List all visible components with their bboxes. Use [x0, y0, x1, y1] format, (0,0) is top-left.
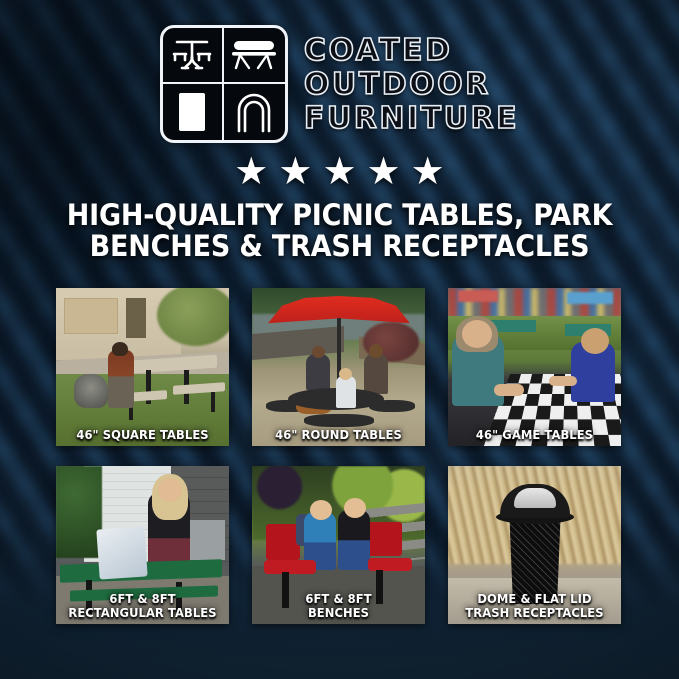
logo-icon-grid — [160, 25, 288, 143]
product-grid: 46" SQUARE TABLES 46" — [56, 288, 623, 624]
star-icon-4: ★ — [367, 153, 401, 191]
headline-line-2: BENCHES & TRASH RECEPTACLES — [52, 231, 628, 262]
star-icon-2: ★ — [278, 153, 312, 191]
product-caption-trash-receptacles: DOME & FLAT LID TRASH RECEPTACLES — [457, 592, 612, 619]
star-rating: ★ ★ ★ ★ ★ — [0, 152, 679, 192]
picnic-table-icon — [163, 28, 224, 84]
product-banner: COATED OUTDOOR FURNITURE ★ ★ ★ ★ ★ HIGH-… — [0, 0, 679, 679]
brand-logo: COATED OUTDOOR FURNITURE — [0, 24, 679, 144]
product-tile-trash-receptacles[interactable]: DOME & FLAT LID TRASH RECEPTACLES — [448, 466, 621, 624]
product-photo-round-tables — [252, 288, 425, 446]
star-icon-1: ★ — [234, 153, 268, 191]
wordmark-line-3: FURNITURE — [304, 102, 519, 135]
brand-wordmark: COATED OUTDOOR FURNITURE — [304, 34, 519, 135]
park-bench-icon — [224, 28, 285, 84]
product-photo-game-tables — [448, 288, 621, 446]
star-icon-3: ★ — [322, 153, 356, 191]
product-caption-rectangular-tables: 6FT & 8FT RECTANGULAR TABLES — [65, 592, 220, 619]
product-tile-rectangular-tables[interactable]: 6FT & 8FT RECTANGULAR TABLES — [56, 466, 229, 624]
product-caption-square-tables: 46" SQUARE TABLES — [65, 428, 220, 442]
wordmark-line-1: COATED — [304, 34, 519, 67]
bike-rack-icon — [224, 84, 285, 140]
product-caption-benches: 6FT & 8FT BENCHES — [261, 592, 416, 619]
product-tile-round-tables[interactable]: 46" ROUND TABLES — [252, 288, 425, 446]
product-photo-square-tables — [56, 288, 229, 446]
star-icon-5: ★ — [411, 153, 445, 191]
product-caption-game-tables: 46" GAME TABLES — [457, 428, 612, 442]
banner-content: COATED OUTDOOR FURNITURE ★ ★ ★ ★ ★ HIGH-… — [0, 0, 679, 679]
trash-receptacle-icon — [163, 84, 224, 140]
wordmark-line-2: OUTDOOR — [304, 68, 519, 101]
headline: HIGH-QUALITY PICNIC TABLES, PARK BENCHES… — [30, 200, 649, 262]
product-tile-square-tables[interactable]: 46" SQUARE TABLES — [56, 288, 229, 446]
product-caption-round-tables: 46" ROUND TABLES — [261, 428, 416, 442]
product-tile-benches[interactable]: 6FT & 8FT BENCHES — [252, 466, 425, 624]
headline-line-1: HIGH-QUALITY PICNIC TABLES, PARK — [52, 200, 628, 231]
product-tile-game-tables[interactable]: 46" GAME TABLES — [448, 288, 621, 446]
